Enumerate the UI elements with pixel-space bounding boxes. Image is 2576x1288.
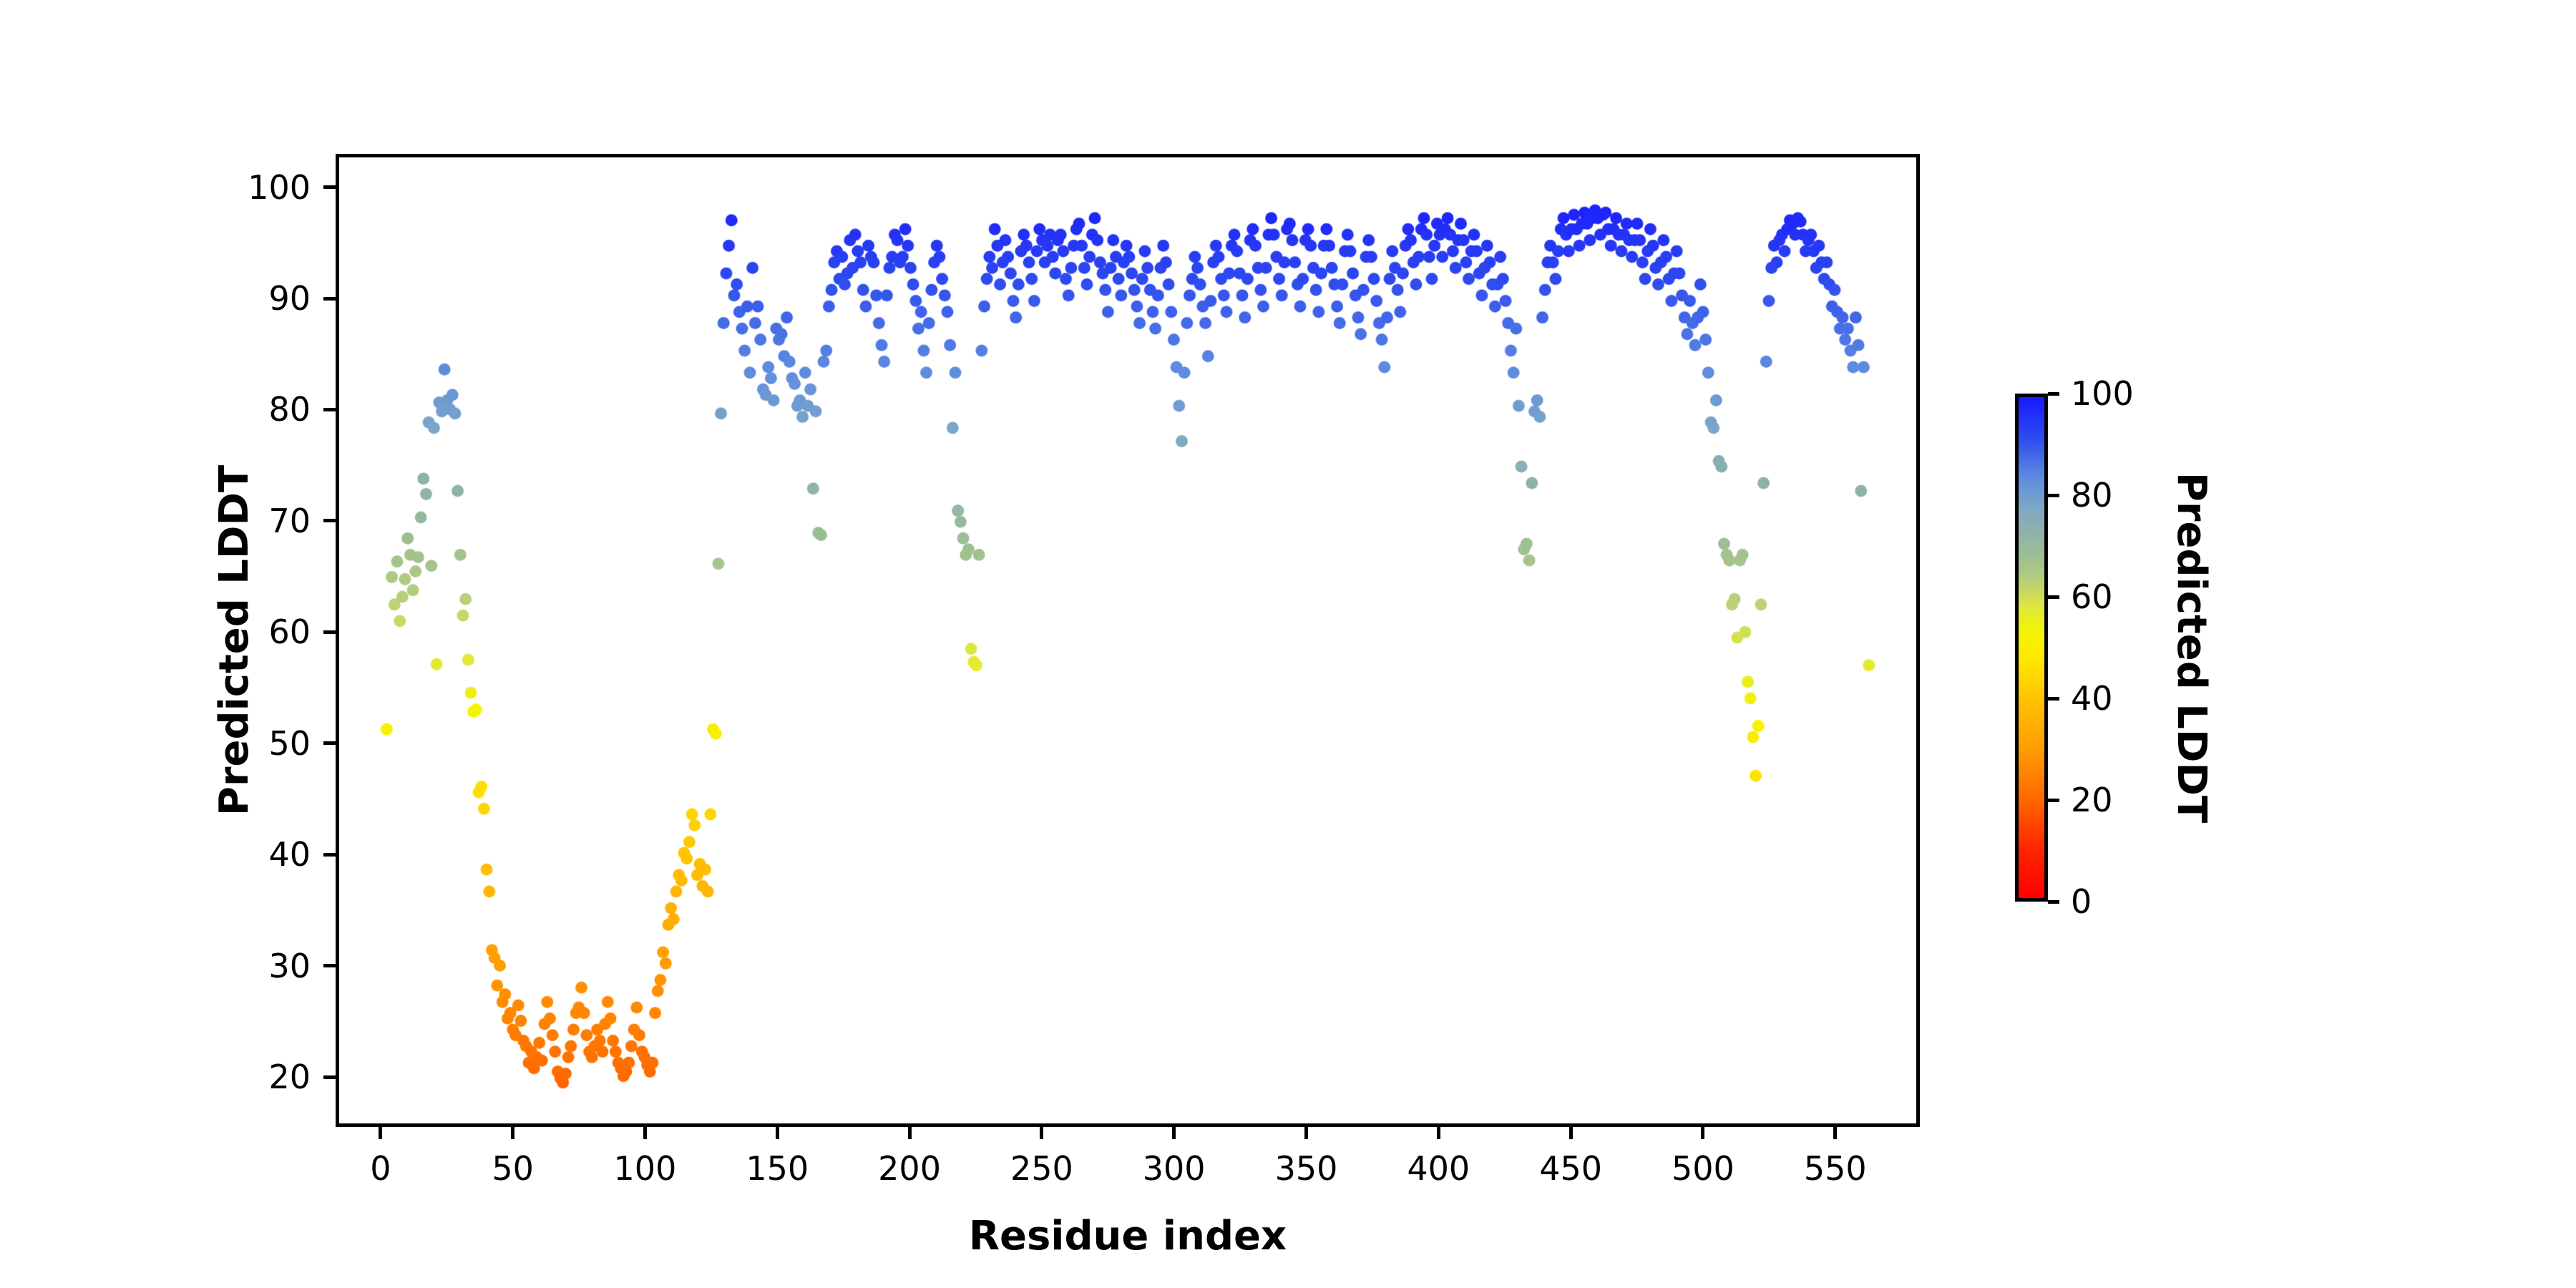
plot-area — [336, 154, 1920, 1127]
x-tick-label: 50 — [441, 1152, 585, 1185]
colorbar-tick-mark — [2048, 494, 2059, 497]
colorbar-tick-label: 20 — [2071, 784, 2113, 816]
x-tick-label: 500 — [1631, 1152, 1775, 1185]
scatter-plot-canvas — [339, 157, 1916, 1123]
x-tick-mark — [643, 1127, 647, 1139]
y-tick-mark — [323, 853, 336, 857]
x-tick-mark — [1437, 1127, 1440, 1139]
y-tick-mark — [323, 519, 336, 522]
colorbar-tick-label: 40 — [2071, 682, 2113, 715]
x-tick-label: 200 — [838, 1152, 981, 1185]
colorbar — [2015, 394, 2048, 902]
colorbar-tick-mark — [2048, 697, 2059, 701]
colorbar-tick-label: 100 — [2071, 377, 2134, 410]
x-tick-mark — [908, 1127, 912, 1139]
x-tick-label: 0 — [309, 1152, 452, 1185]
x-tick-mark — [511, 1127, 514, 1139]
x-tick-mark — [1701, 1127, 1704, 1139]
colorbar-tick-label: 0 — [2071, 885, 2092, 918]
x-tick-label: 150 — [706, 1152, 849, 1185]
colorbar-tick-label: 80 — [2071, 479, 2113, 512]
x-tick-label: 450 — [1499, 1152, 1642, 1185]
colorbar-tick-label: 60 — [2071, 580, 2113, 613]
colorbar-gradient — [2015, 394, 2048, 902]
x-tick-label: 250 — [970, 1152, 1113, 1185]
x-tick-mark — [1833, 1127, 1837, 1139]
y-tick-mark — [323, 630, 336, 634]
colorbar-tick-mark — [2048, 900, 2059, 904]
x-tick-mark — [379, 1127, 382, 1139]
y-tick-mark — [323, 297, 336, 301]
colorbar-label: Predicted LDDT — [2171, 394, 2211, 902]
y-tick-mark — [323, 185, 336, 189]
y-tick-mark — [323, 964, 336, 967]
figure-root: 2030405060708090100 05010015020025030035… — [0, 0, 2576, 1288]
colorbar-tick-mark — [2048, 392, 2059, 396]
y-tick-mark — [323, 408, 336, 411]
x-tick-label: 550 — [1764, 1152, 1907, 1185]
x-tick-mark — [776, 1127, 779, 1139]
colorbar-tick-mark — [2048, 595, 2059, 599]
x-tick-mark — [1172, 1127, 1176, 1139]
y-tick-mark — [323, 741, 336, 745]
y-axis-label: Predicted LDDT — [215, 154, 255, 1127]
x-tick-label: 100 — [573, 1152, 716, 1185]
x-tick-label: 400 — [1367, 1152, 1510, 1185]
x-tick-mark — [1304, 1127, 1308, 1139]
x-tick-mark — [1040, 1127, 1043, 1139]
x-tick-label: 350 — [1234, 1152, 1377, 1185]
x-axis-label: Residue index — [336, 1216, 1920, 1257]
y-tick-mark — [323, 1075, 336, 1079]
x-tick-label: 300 — [1103, 1152, 1246, 1185]
colorbar-tick-mark — [2048, 799, 2059, 802]
x-tick-mark — [1569, 1127, 1573, 1139]
